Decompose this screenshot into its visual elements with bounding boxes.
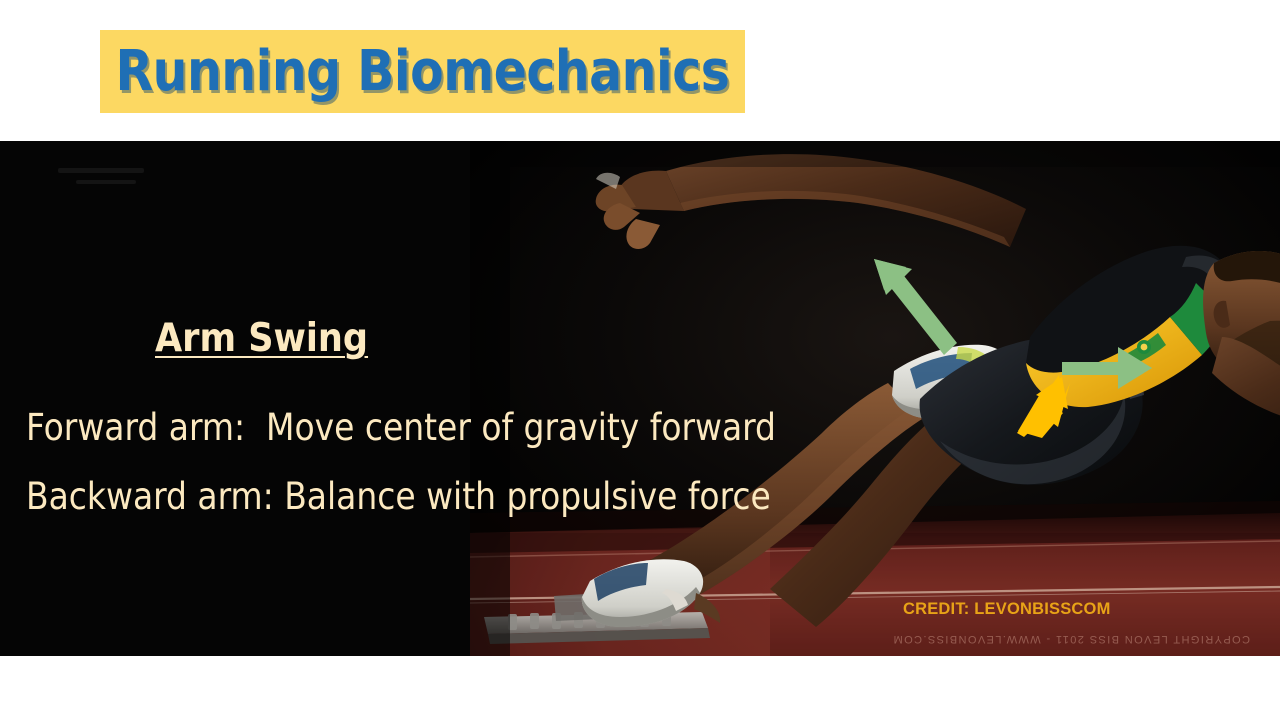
photo-credit: CREDIT: LEVONBISSCOM — [903, 600, 1111, 619]
background-watermark-mark — [58, 168, 144, 173]
sprinter-photo-illustration: COPYRIGHT LEVON BISS 2011 - WWW.LEVONBIS… — [470, 141, 1280, 656]
bullet-line-forward-arm: Forward arm: Move center of gravity forw… — [26, 409, 776, 448]
title-banner: Running Biomechanics — [100, 30, 745, 113]
svg-text:COPYRIGHT LEVON BISS 2011 -: COPYRIGHT LEVON BISS 2011 - WWW.LEVONBIS… — [892, 633, 1250, 645]
slide-content-panel: COPYRIGHT LEVON BISS 2011 - WWW.LEVONBIS… — [0, 141, 1280, 656]
photo-watermark: COPYRIGHT LEVON BISS 2011 - WWW.LEVONBIS… — [892, 633, 1250, 645]
background-watermark-mark — [76, 180, 136, 184]
sprinter-photo: COPYRIGHT LEVON BISS 2011 - WWW.LEVONBIS… — [470, 141, 1280, 656]
page-title: Running Biomechanics — [116, 44, 730, 100]
bullet-line-backward-arm: Backward arm: Balance with propulsive fo… — [26, 478, 771, 517]
section-heading: Arm Swing — [155, 319, 368, 360]
